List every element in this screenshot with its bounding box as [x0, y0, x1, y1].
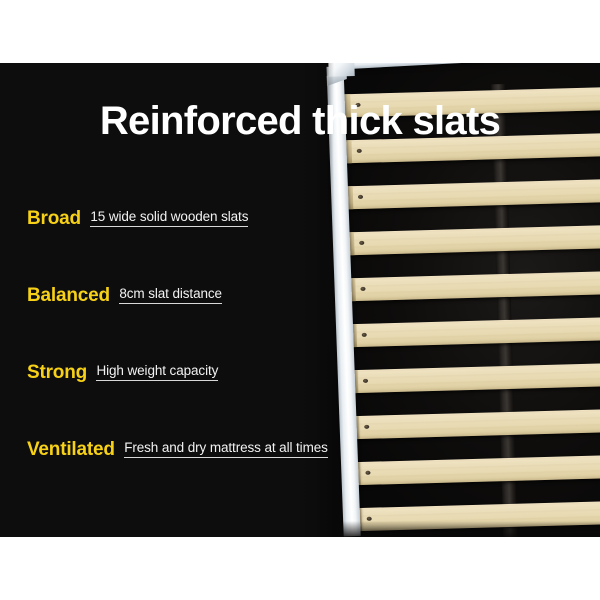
- slat-screw: [360, 287, 365, 291]
- promo-image: Reinforced thick slats Broad 15 wide sol…: [0, 0, 600, 600]
- photo-bottom-shadow: [300, 521, 600, 537]
- wooden-slat: [346, 270, 600, 302]
- feature-list: Broad 15 wide solid wooden slats Balance…: [27, 208, 357, 516]
- page-title: Reinforced thick slats: [0, 101, 600, 141]
- wooden-slat: [349, 362, 600, 394]
- wooden-slat: [351, 454, 600, 486]
- feature-label: Balanced: [27, 285, 110, 306]
- feature-label: Broad: [27, 208, 81, 229]
- feature-description: 8cm slat distance: [119, 286, 222, 304]
- feature-description: High weight capacity: [96, 363, 218, 381]
- list-item: Ventilated Fresh and dry mattress at all…: [27, 439, 357, 516]
- promo-black-panel: Reinforced thick slats Broad 15 wide sol…: [0, 63, 600, 537]
- wooden-slat: [344, 178, 600, 210]
- slat-screw: [359, 241, 364, 245]
- list-item: Broad 15 wide solid wooden slats: [27, 208, 357, 285]
- slat-screw: [358, 195, 363, 199]
- wooden-slat: [347, 316, 600, 348]
- slat-screw: [365, 471, 370, 475]
- feature-description: 15 wide solid wooden slats: [90, 209, 248, 227]
- feature-description: Fresh and dry mattress at all times: [124, 440, 328, 458]
- feature-label: Ventilated: [27, 439, 115, 460]
- list-item: Balanced 8cm slat distance: [27, 285, 357, 362]
- list-item: Strong High weight capacity: [27, 362, 357, 439]
- wooden-slat: [350, 408, 600, 440]
- slat-screw: [357, 149, 362, 153]
- slat-screw: [363, 379, 368, 383]
- bed-frame-top-rail: [342, 63, 600, 69]
- slat-screw: [362, 333, 367, 337]
- wooden-slat: [345, 224, 600, 256]
- slat-screw: [364, 425, 369, 429]
- feature-label: Strong: [27, 362, 87, 383]
